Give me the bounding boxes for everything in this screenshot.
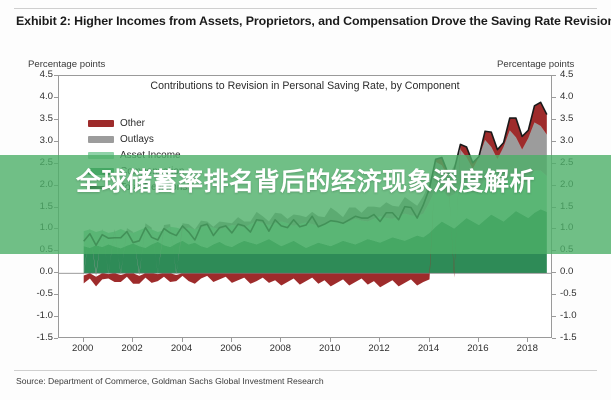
legend-item: Outlays (88, 133, 187, 146)
x-tick-label: 2000 (63, 343, 103, 354)
y-tick-label: 0.0 (560, 267, 586, 277)
y-tick-mark (552, 294, 556, 295)
y-tick-mark (552, 338, 556, 339)
y-tick-label: 0.0 (27, 267, 53, 277)
x-tick-mark (527, 338, 528, 342)
x-tick-mark (231, 338, 232, 342)
x-tick-mark (429, 338, 430, 342)
y-tick-mark (54, 119, 58, 120)
y-tick-label: 4.5 (560, 70, 586, 80)
x-tick-label: 2012 (359, 343, 399, 354)
x-tick-label: 2018 (507, 343, 547, 354)
y-tick-label: 3.5 (560, 114, 586, 124)
x-tick-label: 2002 (112, 343, 152, 354)
exhibit-title: Exhibit 2: Higher Incomes from Assets, P… (16, 14, 596, 28)
y-tick-mark (54, 316, 58, 317)
y-tick-mark (54, 141, 58, 142)
x-tick-label: 2008 (260, 343, 300, 354)
x-tick-label: 2004 (162, 343, 202, 354)
y-tick-mark (552, 141, 556, 142)
x-tick-mark (478, 338, 479, 342)
y-tick-label: 4.0 (27, 92, 53, 102)
y-tick-mark (552, 272, 556, 273)
x-tick-label: 2010 (310, 343, 350, 354)
y-tick-mark (54, 272, 58, 273)
bottom-divider (14, 370, 597, 371)
y-tick-mark (54, 294, 58, 295)
chart-title: Contributions to Revision in Personal Sa… (58, 80, 552, 92)
x-tick-label: 2014 (409, 343, 449, 354)
y-tick-label: 3.0 (560, 136, 586, 146)
legend-swatch-icon (88, 136, 114, 143)
y-tick-mark (552, 97, 556, 98)
overlay-headline: 全球储蓄率排名背后的经济现象深度解析 (44, 163, 567, 201)
y-tick-label: -1.5 (27, 333, 53, 343)
y-tick-mark (54, 97, 58, 98)
top-divider (14, 8, 597, 9)
y-tick-label: -0.5 (560, 289, 586, 299)
y-tick-label: 4.0 (560, 92, 586, 102)
x-tick-mark (330, 338, 331, 342)
legend-item-label: Outlays (120, 134, 154, 145)
y-tick-mark (54, 75, 58, 76)
y-tick-label: -0.5 (27, 289, 53, 299)
y-tick-label: 3.0 (27, 136, 53, 146)
y-tick-mark (552, 119, 556, 120)
legend-item-label: Other (120, 118, 145, 129)
source-note: Source: Department of Commerce, Goldman … (16, 376, 324, 386)
x-tick-mark (379, 338, 380, 342)
y-tick-label: -1.0 (560, 311, 586, 321)
x-tick-mark (182, 338, 183, 342)
y-tick-mark (552, 316, 556, 317)
y-tick-label: -1.0 (27, 311, 53, 321)
y-tick-mark (54, 338, 58, 339)
y-tick-label: -1.5 (560, 333, 586, 343)
x-tick-mark (83, 338, 84, 342)
y-tick-label: 4.5 (27, 70, 53, 80)
x-tick-mark (280, 338, 281, 342)
exhibit-figure: Exhibit 2: Higher Incomes from Assets, P… (0, 0, 611, 400)
y-tick-label: 3.5 (27, 114, 53, 124)
x-tick-label: 2006 (211, 343, 251, 354)
x-tick-label: 2016 (458, 343, 498, 354)
legend-swatch-icon (88, 120, 114, 127)
x-tick-mark (132, 338, 133, 342)
legend-item: Other (88, 117, 187, 130)
y-tick-mark (552, 75, 556, 76)
